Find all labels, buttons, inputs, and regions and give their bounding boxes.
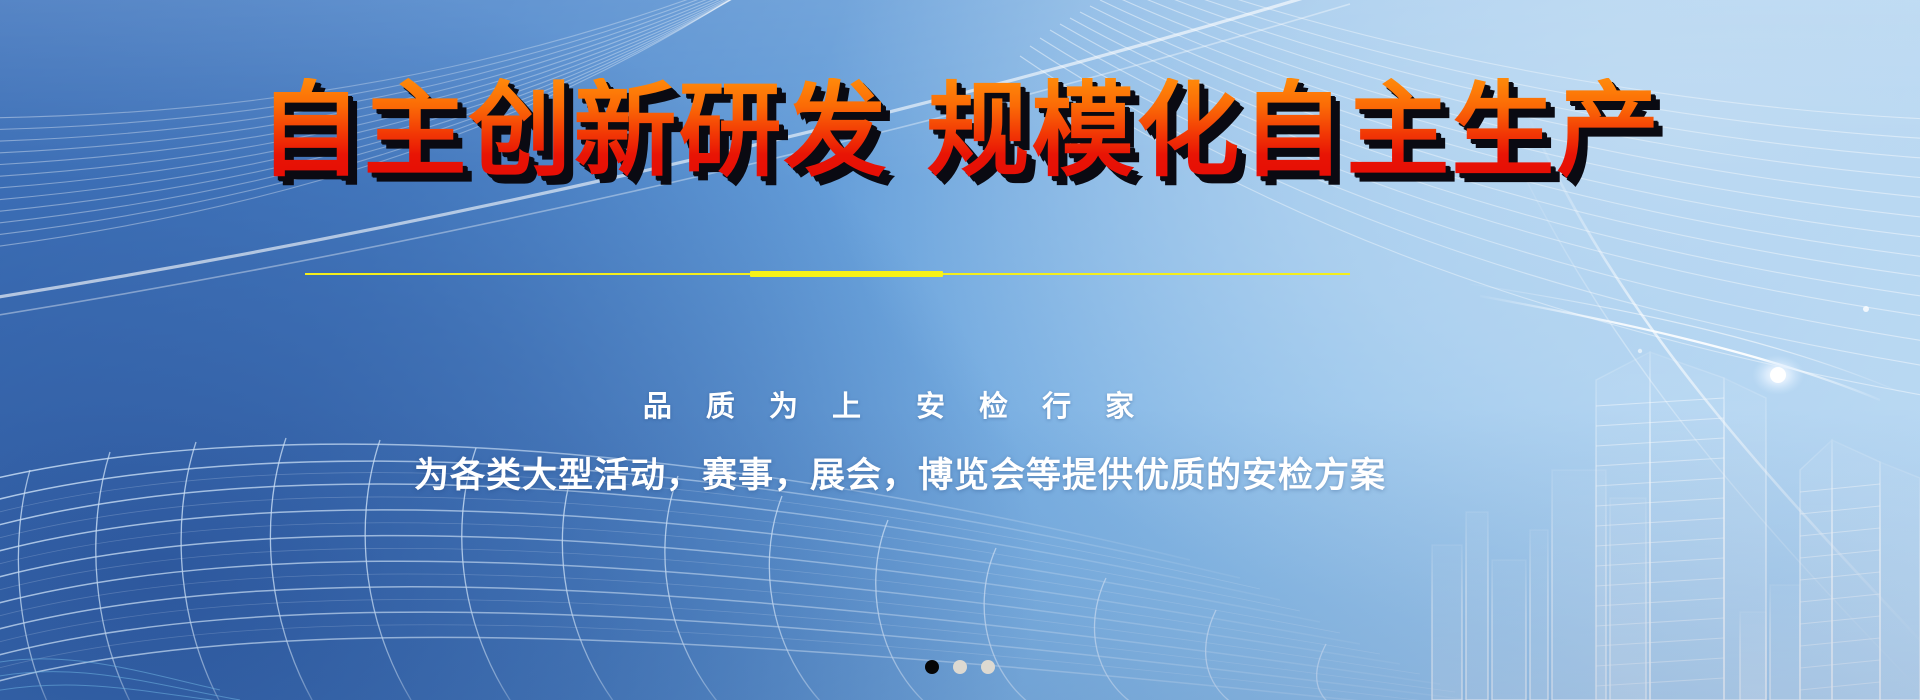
carousel-dot-1[interactable] [925, 660, 939, 674]
divider-center-bar [750, 271, 943, 277]
subtitle-secondary: 为各类大型活动，赛事，展会，博览会等提供优质的安检方案 [0, 447, 1800, 498]
headline-container: 自主创新研发 规模化自主生产 [0, 78, 1920, 185]
subtitle-primary: 品 质 为 上 安 检 行 家 [0, 383, 1790, 425]
hero-banner-slide: 自主创新研发 规模化自主生产 品 质 为 上 安 检 行 家 为各类大型活动，赛… [0, 0, 1920, 700]
headline-text: 自主创新研发 规模化自主生产 [259, 78, 1662, 185]
carousel-dot-2[interactable] [953, 660, 967, 674]
carousel-dot-3[interactable] [981, 660, 995, 674]
yellow-divider [305, 268, 1350, 280]
carousel-dots[interactable] [0, 660, 1920, 674]
